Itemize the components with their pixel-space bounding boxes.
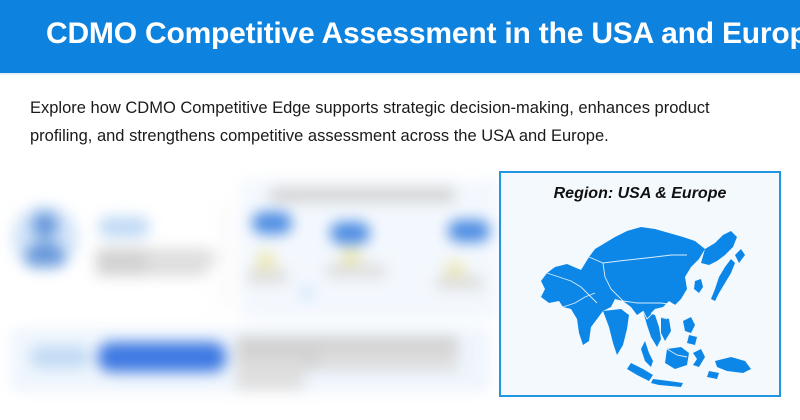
status-dot (300, 286, 314, 300)
blurred-background-ui (0, 160, 500, 420)
avatar-body-icon (25, 242, 65, 266)
icon-caption-line (246, 270, 288, 284)
toolbar-text-block (318, 352, 458, 368)
page-header-banner: CDMO Competitive Assessment in the USA a… (0, 0, 800, 73)
page-title: CDMO Competitive Assessment in the USA a… (46, 17, 800, 51)
icon-caption-line (436, 276, 484, 290)
toolbar-text-block (236, 360, 304, 390)
card-pill-button (330, 222, 370, 244)
badge-pill (98, 216, 150, 238)
card-pill-button (448, 220, 490, 242)
toolbar-button-group (98, 342, 226, 372)
page-subtitle: Explore how CDMO Competitive Edge suppor… (30, 94, 772, 150)
divider-column (216, 202, 234, 310)
card-header-line (270, 188, 455, 202)
card-pill-button (252, 212, 292, 234)
asia-landmass (541, 227, 751, 387)
text-block-line (190, 252, 218, 264)
icon-caption-line (326, 264, 386, 278)
toolbar-label-chip (30, 346, 90, 368)
map-caption: Region: USA & Europe (501, 185, 779, 203)
region-map-panel: Region: USA & Europe (499, 171, 781, 397)
header-divider (0, 73, 800, 75)
avatar-head-icon (32, 212, 58, 238)
region-map-image (519, 215, 765, 387)
